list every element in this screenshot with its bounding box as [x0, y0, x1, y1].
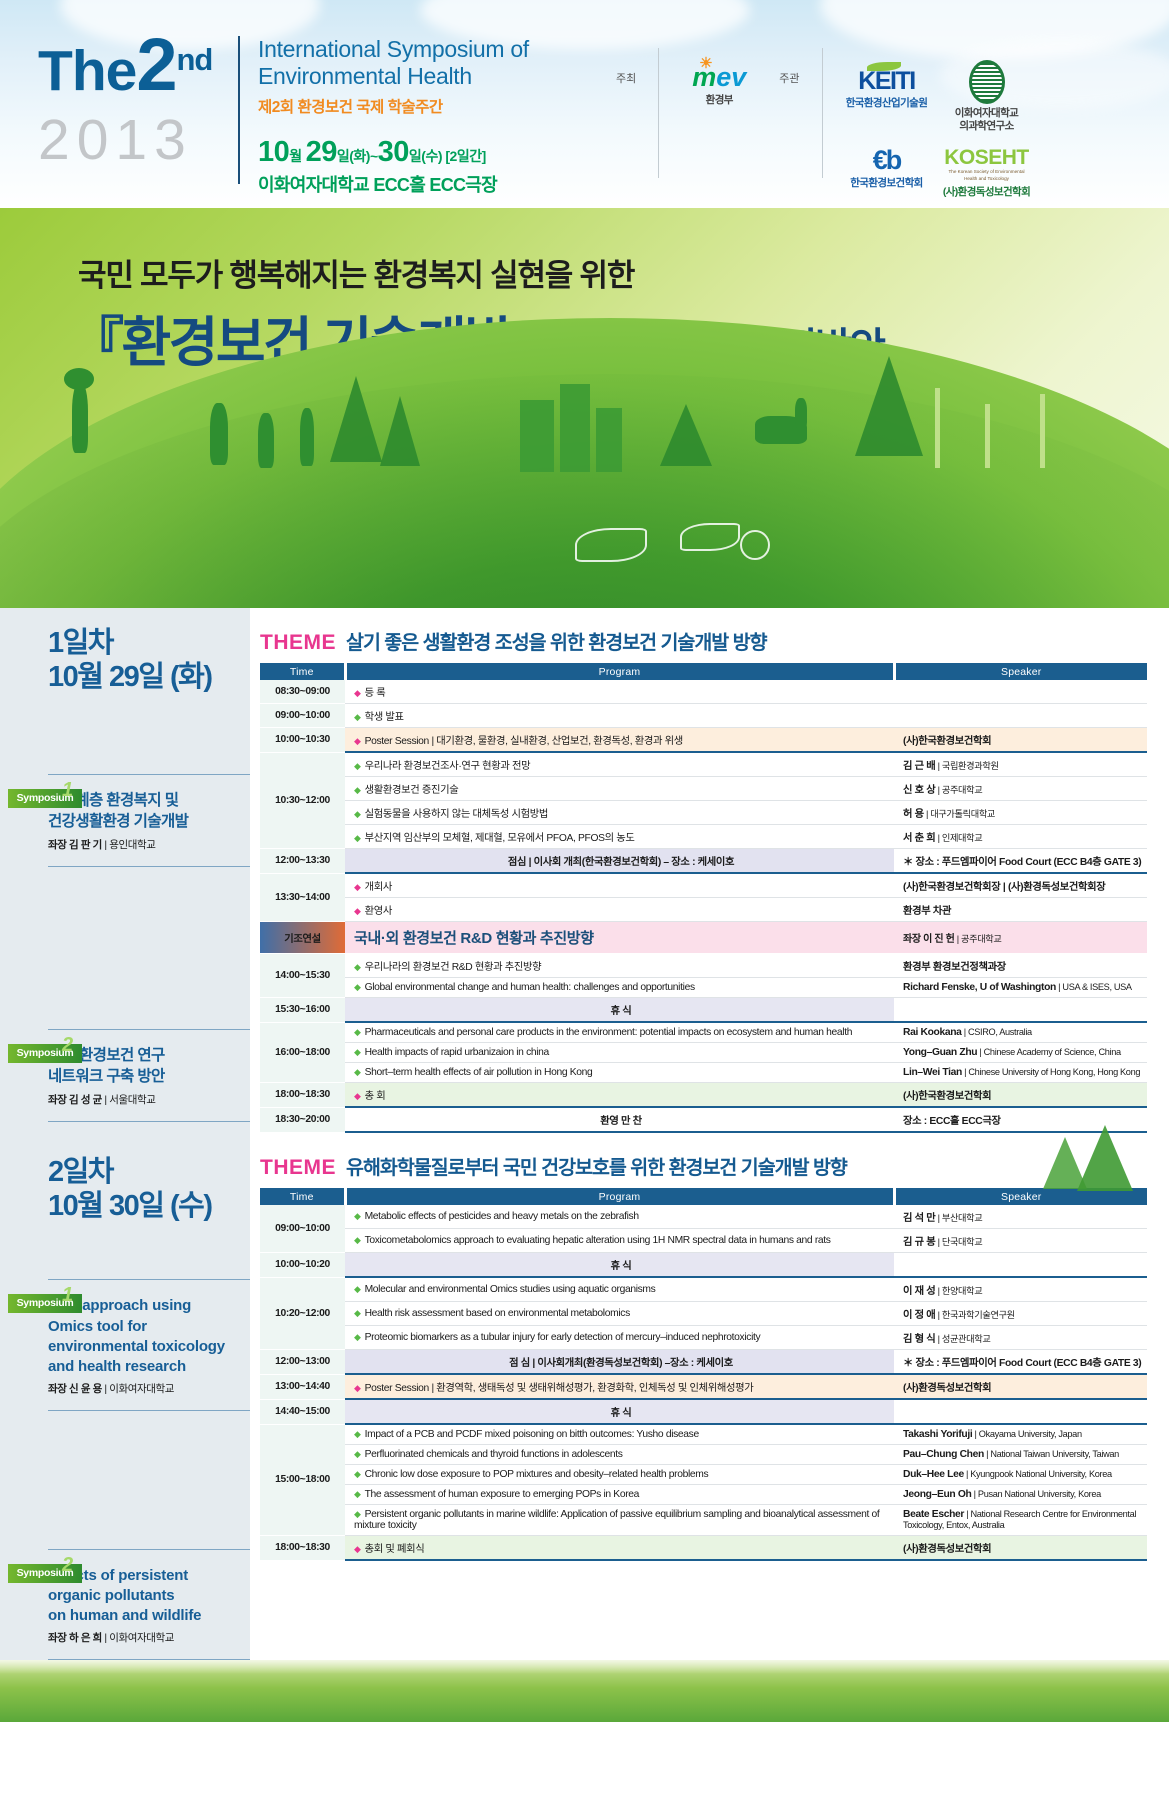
mev-logo-icon: mev☀	[673, 64, 765, 91]
day1-table-body: 08:30~09:00◆등 록09:00~10:00◆학생 발표10:00~10…	[260, 680, 1147, 1132]
bullet-icon: ◆	[354, 1284, 361, 1294]
symposium-title-line: environmental toxicology	[48, 1337, 242, 1357]
symposium-title-line: and health research	[48, 1357, 242, 1377]
bullet-icon: ◆	[354, 1235, 361, 1245]
day2-symposium-1: Symposium 1 New approach using Omics too…	[0, 1280, 250, 1409]
bullet-icon: ◆	[354, 882, 361, 892]
cell-time: 10:00~10:20	[260, 1253, 345, 1278]
symposium-chair: 좌장 김 성 균 | 서울대학교	[48, 1092, 242, 1107]
bullet-icon: ◆	[354, 1489, 361, 1499]
chair-affiliation: | 용인대학교	[104, 839, 155, 851]
cell-time: 09:00~10:00	[260, 1205, 345, 1253]
cell-time: 18:30~20:00	[260, 1107, 345, 1132]
cell-program: ◆생활환경보건 증진기술	[345, 777, 894, 801]
hero-banner: 국민 모두가 행복해지는 환경복지 실현을 위한 『환경보건 기술개발(R&D)…	[0, 208, 1169, 608]
person-silhouette	[258, 413, 274, 468]
table-row: 12:00~13:30점심 | 이사회 개최(한국환경보건학회) – 장소 : …	[260, 849, 1147, 874]
cell-speaker: 이 재 성 | 한양대학교	[894, 1277, 1147, 1302]
speaker-affiliation: | 한국과학기술연구원	[935, 1310, 1014, 1320]
cell-speaker: Takashi Yorifuji | Okayama University, J…	[894, 1424, 1147, 1445]
chair-name: 좌장 김 판 기	[48, 839, 102, 851]
day1-right-column: THEME 살기 좋은 생활환경 조성을 위한 환경보건 기술개발 방향 Tim…	[250, 608, 1169, 1133]
cell-program: ◆Poster Session | 환경역학, 생태독성 및 생태위해성평가, …	[345, 1374, 894, 1399]
org-koseht: KOSEHT The Korean Society of Environment…	[937, 147, 1037, 199]
table-row: ◆환영사환경부 차관	[260, 898, 1147, 922]
speaker-affiliation: | National Taiwan University, Taiwan	[984, 1449, 1119, 1459]
table-row: ◆Proteomic biomarkers as a tubular injur…	[260, 1326, 1147, 1350]
org-divider	[822, 48, 823, 178]
theme-text: 살기 좋은 생활환경 조성을 위한 환경보건 기술개발 방향	[346, 626, 767, 655]
table-row: 기조연설국내·외 환경보건 R&D 현황과 추진방향좌장 이 진 헌 | 공주대…	[260, 922, 1147, 954]
cell-speaker: 신 호 상 | 공주대학교	[894, 777, 1147, 801]
symposium-title-line: 건강생활환경 기술개발	[48, 812, 242, 833]
ewha-seal-icon	[969, 60, 1005, 104]
person-silhouette	[300, 408, 314, 466]
logo-edition-ordinal: nd	[177, 42, 213, 77]
bullet-icon: ◆	[354, 962, 361, 972]
cell-speaker	[894, 1399, 1147, 1424]
cell-program: ◆우리나라 환경보건조사·연구 현황과 전망	[345, 752, 894, 777]
date-month: 10	[258, 136, 289, 168]
table-row: 10:30~12:00◆우리나라 환경보건조사·연구 현황과 전망김 근 배 |…	[260, 752, 1147, 777]
chair-name: 좌장 김 성 균	[48, 1094, 102, 1106]
header-title-block: International Symposium of Environmental…	[258, 30, 588, 197]
koseht-logo-text: KOSEHT	[937, 147, 1037, 168]
table-row: 15:30~16:00휴 식	[260, 998, 1147, 1023]
host-label: 주최	[616, 48, 636, 86]
cell-speaker: Pau–Chung Chen | National Taiwan Univers…	[894, 1445, 1147, 1465]
table-row: 18:00~18:30◆총 회(사)한국환경보건학회	[260, 1083, 1147, 1108]
speaker-affiliation: | Chinese University of Hong Kong, Hong …	[962, 1067, 1140, 1077]
speaker-affiliation: | 국립환경과학원	[935, 761, 998, 771]
symposium-title-line: organic pollutants	[48, 1586, 242, 1606]
ehb-logo-icon: €b	[837, 147, 937, 174]
cell-time: 13:30~14:00	[260, 873, 345, 922]
cell-time: 10:20~12:00	[260, 1277, 345, 1350]
day2-label-line1: 2일차	[48, 1155, 250, 1189]
speaker-affiliation: | 공주대학교	[955, 934, 1002, 944]
cell-speaker: Rai Kookana | CSIRO, Australia	[894, 1022, 1147, 1043]
org-ewha: 이화여자대학교 의과학연구소	[937, 48, 1037, 133]
cell-program: ◆Pharmaceuticals and personal care produ…	[345, 1022, 894, 1043]
cell-time: 15:30~16:00	[260, 998, 345, 1023]
cell-time: 16:00~18:00	[260, 1022, 345, 1083]
cell-time: 08:30~09:00	[260, 680, 345, 704]
speaker-affiliation: | National Research Centre for Environme…	[903, 1509, 1136, 1530]
table-row: 14:40~15:00휴 식	[260, 1399, 1147, 1424]
day1-label-line1: 1일차	[48, 626, 250, 660]
cell-program: ◆Health impacts of rapid urbanizaion in …	[345, 1043, 894, 1063]
table-row: 18:00~18:30◆총회 및 폐회식(사)환경독성보건학회	[260, 1536, 1147, 1561]
cell-program: 휴 식	[345, 1253, 894, 1278]
fish-outline-icon	[680, 523, 740, 551]
speaker-affiliation: | 대구가톨릭대학교	[924, 809, 995, 819]
bullet-icon: ◆	[354, 1449, 361, 1459]
cell-program: ◆Toxicometabolomics approach to evaluati…	[345, 1229, 894, 1253]
spiral-icon	[740, 530, 770, 560]
cell-time: 18:00~18:30	[260, 1083, 345, 1108]
speaker-affiliation: | USA & ISES, USA	[1056, 982, 1132, 992]
day2-left-column: 2일차 10월 30일 (수) Symposium 1 New approach…	[0, 1133, 250, 1660]
cell-program: ◆Proteomic biomarkers as a tubular injur…	[345, 1326, 894, 1350]
cell-speaker	[894, 680, 1147, 704]
cell-speaker: 환경부 차관	[894, 898, 1147, 922]
speaker-affiliation: | CSIRO, Australia	[962, 1027, 1032, 1037]
cell-program: 국내·외 환경보건 R&D 현황과 추진방향	[345, 922, 894, 954]
table-row: 10:00~10:30◆Poster Session | 대기환경, 물환경, …	[260, 728, 1147, 753]
symposium-number: 2	[62, 1034, 73, 1057]
chair-affiliation: | 서울대학교	[104, 1094, 155, 1106]
cell-program: ◆환영사	[345, 898, 894, 922]
speaker-affiliation: | Okayama University, Japan	[972, 1429, 1081, 1439]
table-row: 12:00~13:00점 심 | 이사회개최(환경독성보건학회) –장소 : 케…	[260, 1350, 1147, 1375]
day2-section: 2일차 10월 30일 (수) Symposium 1 New approach…	[0, 1133, 1169, 1660]
cell-time: 15:00~18:00	[260, 1424, 345, 1536]
theme-keyword: THEME	[260, 1156, 336, 1180]
cell-speaker: Duk–Hee Lee | Kyungpook National Univers…	[894, 1465, 1147, 1485]
bullet-icon: ◆	[354, 1308, 361, 1318]
keiti-name: 한국환경산업기술원	[837, 97, 937, 110]
cell-time: 13:00~14:40	[260, 1374, 345, 1399]
table-row: ◆부산지역 임산부의 모체혈, 제대혈, 모유에서 PFOA, PFOS의 농도…	[260, 825, 1147, 849]
cell-speaker: (사)환경독성보건학회	[894, 1374, 1147, 1399]
table-row: ◆Toxicometabolomics approach to evaluati…	[260, 1229, 1147, 1253]
bullet-icon: ◆	[354, 1469, 361, 1479]
day1-left-column: 1일차 10월 29일 (화) Symposium 1 취약계층 환경복지 및 …	[0, 608, 250, 1133]
bullet-icon: ◆	[354, 1429, 361, 1439]
cell-program: ◆실험동물을 사용하지 않는 대체독성 시험방법	[345, 801, 894, 825]
symposium-chair: 좌장 신 윤 용 | 이화여자대학교	[48, 1381, 242, 1396]
cell-program: ◆Impact of a PCB and PCDF mixed poisonin…	[345, 1424, 894, 1445]
tree-silhouette	[855, 356, 923, 456]
cell-speaker: 환경부 환경보건정책과장	[894, 954, 1147, 978]
cell-speaker: 허 용 | 대구가톨릭대학교	[894, 801, 1147, 825]
table-row: 08:30~09:00◆등 록	[260, 680, 1147, 704]
table-header-row: Time Program Speaker	[260, 663, 1147, 680]
host-logo-cell: mev☀ 환경부	[673, 48, 765, 107]
table-row: ◆Perfluorinated chemicals and thyroid fu…	[260, 1445, 1147, 1465]
table-row: ◆실험동물을 사용하지 않는 대체독성 시험방법허 용 | 대구가톨릭대학교	[260, 801, 1147, 825]
windmill-icon	[1040, 394, 1045, 468]
title-en-line1: International Symposium of	[258, 36, 588, 63]
table-row: ◆Short–term health effects of air pollut…	[260, 1063, 1147, 1083]
col-header-program: Program	[345, 663, 894, 680]
table-row: 14:00~15:30◆우리나라의 환경보건 R&D 현황과 추진방향환경부 환…	[260, 954, 1147, 978]
cell-program: 휴 식	[345, 998, 894, 1023]
day2-right-column: THEME 유해화학물질로부터 국민 건강보호를 위한 환경보건 기술개발 방향…	[250, 1133, 1169, 1660]
cell-program: 점심 | 이사회 개최(한국환경보건학회) – 장소 : 케세이호	[345, 849, 894, 874]
symposium-title-line: 네트워크 구축 방안	[48, 1067, 242, 1088]
bullet-icon: ◆	[354, 736, 361, 746]
cell-time: 기조연설	[260, 922, 345, 954]
poster-header: The2nd 2013 International Symposium of E…	[0, 0, 1169, 208]
cell-speaker: ＊ 장소 : 푸드엠파이어 Food Court (ECC B4층 GATE 3…	[894, 849, 1147, 874]
bullet-icon: ◆	[354, 906, 361, 916]
symposium-number: 1	[62, 779, 73, 802]
speaker-affiliation: | 공주대학교	[935, 785, 982, 795]
col-header-time: Time	[260, 1188, 345, 1205]
speaker-affiliation: | 인제대학교	[935, 833, 982, 843]
day2-schedule-table: Time Program Speaker 09:00~10:00◆Metabol…	[260, 1188, 1147, 1561]
building-silhouette	[596, 408, 622, 472]
cell-speaker: 김 규 봉 | 단국대학교	[894, 1229, 1147, 1253]
theme-text: 유해화학물질로부터 국민 건강보호를 위한 환경보건 기술개발 방향	[346, 1151, 847, 1180]
symposium-number: 1	[62, 1284, 73, 1307]
bullet-icon: ◆	[354, 1332, 361, 1342]
edition-logo: The2nd 2013	[38, 30, 238, 169]
event-dates: 10월 29일(화)~30일(수) [2일간]	[258, 136, 588, 169]
bullet-icon: ◆	[354, 1544, 361, 1554]
event-venue: 이화여자대학교 ECC홀 ECC극장	[258, 171, 588, 197]
day1-schedule-table: Time Program Speaker 08:30~09:00◆등 록09:0…	[260, 663, 1147, 1133]
cell-program: ◆총회 및 폐회식	[345, 1536, 894, 1561]
cell-program: ◆Metabolic effects of pesticides and hea…	[345, 1205, 894, 1229]
date-day1: 29	[306, 136, 337, 168]
cell-program: 환영 만 찬	[345, 1107, 894, 1132]
building-silhouette	[560, 384, 590, 472]
org-ehb: €b 한국환경보건학회	[837, 147, 937, 199]
cell-speaker	[894, 704, 1147, 728]
cell-program: ◆총 회	[345, 1083, 894, 1108]
logo-year: 2013	[38, 112, 238, 169]
cell-speaker: Beate Escher | National Research Centre …	[894, 1505, 1147, 1536]
cell-speaker: (사)한국환경보건학회	[894, 1083, 1147, 1108]
symposium-title-line: on human and wildlife	[48, 1606, 242, 1626]
cell-speaker: 이 정 애 | 한국과학기술연구원	[894, 1302, 1147, 1326]
cell-speaker: Jeong–Eun Oh | Pusan National University…	[894, 1485, 1147, 1505]
col-header-time: Time	[260, 663, 345, 680]
person-silhouette	[72, 383, 88, 453]
cell-program: 휴 식	[345, 1399, 894, 1424]
table-row: ◆Health risk assessment based on environ…	[260, 1302, 1147, 1326]
cell-program: ◆학생 발표	[345, 704, 894, 728]
header-divider	[238, 36, 240, 184]
logo-the-text: The	[38, 39, 136, 103]
person-silhouette	[64, 368, 94, 390]
date-day2: 30	[378, 136, 409, 168]
cell-program: ◆Molecular and environmental Omics studi…	[345, 1277, 894, 1302]
cell-program: ◆Chronic low dose exposure to POP mixtur…	[345, 1465, 894, 1485]
ehb-name: 한국환경보건학회	[837, 177, 937, 190]
table-row: ◆Persistent organic pollutants in marine…	[260, 1505, 1147, 1536]
bullet-icon: ◆	[354, 1509, 361, 1519]
cell-speaker: ＊ 장소 : 푸드엠파이어 Food Court (ECC B4층 GATE 3…	[894, 1350, 1147, 1375]
cell-time: 18:00~18:30	[260, 1536, 345, 1561]
bullet-icon: ◆	[354, 761, 361, 771]
cell-time: 09:00~10:00	[260, 704, 345, 728]
speaker-affiliation: | Kyungpook National University, Korea	[964, 1469, 1112, 1479]
cell-speaker: 서 춘 희 | 인제대학교	[894, 825, 1147, 849]
day2-theme: THEME 유해화학물질로부터 국민 건강보호를 위한 환경보건 기술개발 방향	[260, 1151, 1147, 1180]
speaker-affiliation: | Chinese Academy of Science, China	[977, 1047, 1121, 1057]
theme-keyword: THEME	[260, 631, 336, 655]
table-row: 15:00~18:00◆Impact of a PCB and PCDF mix…	[260, 1424, 1147, 1445]
cell-program: ◆Short–term health effects of air pollut…	[345, 1063, 894, 1083]
col-header-program: Program	[345, 1188, 894, 1205]
speaker-affiliation: | Pusan National University, Korea	[971, 1489, 1100, 1499]
table-row: 13:00~14:40◆Poster Session | 환경역학, 생태독성 …	[260, 1374, 1147, 1399]
poster-footer-strip	[0, 1660, 1169, 1722]
bullet-icon: ◆	[354, 1211, 361, 1221]
cell-program: ◆Perfluorinated chemicals and thyroid fu…	[345, 1445, 894, 1465]
cell-speaker: 김 형 식 | 성균관대학교	[894, 1326, 1147, 1350]
cell-speaker: 김 석 만 | 부산대학교	[894, 1205, 1147, 1229]
chair-affiliation: | 이화여자대학교	[104, 1632, 174, 1644]
cell-program: 점 심 | 이사회개최(환경독성보건학회) –장소 : 케세이호	[345, 1350, 894, 1375]
koseht-logo-subtitle: The Korean Society of Environmental Heal…	[937, 169, 1037, 183]
table-row: 10:00~10:20휴 식	[260, 1253, 1147, 1278]
windmill-icon	[935, 388, 940, 468]
cell-program: ◆Global environmental change and human h…	[345, 978, 894, 998]
table-header-row: Time Program Speaker	[260, 1188, 1147, 1205]
symposium-number: 2	[62, 1554, 73, 1577]
koseht-name: (사)환경독성보건학회	[937, 186, 1037, 199]
day2-table-body: 09:00~10:00◆Metabolic effects of pestici…	[260, 1205, 1147, 1560]
cell-program: ◆Poster Session | 대기환경, 물환경, 실내환경, 산업보건,…	[345, 728, 894, 753]
date-day1-unit: 일(화)~	[337, 148, 378, 164]
table-row: 10:20~12:00◆Molecular and environmental …	[260, 1277, 1147, 1302]
cell-program: ◆우리나라의 환경보건 R&D 현황과 추진방향	[345, 954, 894, 978]
speaker-affiliation: | 성균관대학교	[935, 1334, 990, 1344]
bullet-icon: ◆	[354, 982, 361, 992]
date-day2-unit: 일(수) [2일간]	[409, 148, 486, 164]
tree-silhouette	[380, 396, 420, 466]
col-header-speaker: Speaker	[894, 663, 1147, 680]
cell-speaker: Yong–Guan Zhu | Chinese Academy of Scien…	[894, 1043, 1147, 1063]
cell-program: ◆개회사	[345, 873, 894, 898]
bullet-icon: ◆	[354, 1027, 361, 1037]
person-silhouette	[210, 403, 228, 465]
host-name: 환경부	[673, 94, 765, 107]
day1-symposium-1: Symposium 1 취약계층 환경복지 및 건강생활환경 기술개발 좌장 김…	[0, 775, 250, 866]
table-row: 13:30~14:00◆개회사(사)한국환경보건학회장 | (사)환경독성보건학…	[260, 873, 1147, 898]
day2-label: 2일차 10월 30일 (수)	[0, 1155, 250, 1223]
chair-name: 좌장 신 윤 용	[48, 1383, 102, 1395]
organizer-logos: 주최 mev☀ 환경부 주관 KEITI 한국환경산업기술원	[616, 30, 1037, 199]
chair-affiliation: | 이화여자대학교	[104, 1383, 174, 1395]
cell-time: 14:40~15:00	[260, 1399, 345, 1424]
cell-speaker: Lin–Wei Tian | Chinese University of Hon…	[894, 1063, 1147, 1083]
cell-time: 14:00~15:30	[260, 954, 345, 998]
deer-silhouette	[795, 398, 807, 428]
keiti-logo-text: KEITI	[837, 69, 937, 94]
windmill-icon	[985, 404, 990, 468]
cell-program: ◆Health risk assessment based on environ…	[345, 1302, 894, 1326]
bullet-icon: ◆	[354, 809, 361, 819]
table-row: 18:30~20:00환영 만 찬장소 : ECC홀 ECC극장	[260, 1107, 1147, 1132]
day1-theme: THEME 살기 좋은 생활환경 조성을 위한 환경보건 기술개발 방향	[260, 626, 1147, 655]
table-row: ◆Health impacts of rapid urbanizaion in …	[260, 1043, 1147, 1063]
tree-silhouette	[660, 404, 712, 466]
org-divider	[658, 48, 659, 178]
cell-time: 10:30~12:00	[260, 752, 345, 849]
bullet-icon: ◆	[354, 1067, 361, 1077]
cell-speaker: (사)환경독성보건학회	[894, 1536, 1147, 1561]
speaker-affiliation: | 한양대학교	[935, 1286, 982, 1296]
cell-speaker: 김 근 배 | 국립환경과학원	[894, 752, 1147, 777]
bullet-icon: ◆	[354, 688, 361, 698]
cell-speaker	[894, 1253, 1147, 1278]
cell-speaker: (사)한국환경보건학회장 | (사)환경독성보건학회장	[894, 873, 1147, 898]
date-month-unit: 월	[289, 148, 301, 164]
table-row: 09:00~10:00◆학생 발표	[260, 704, 1147, 728]
cell-time: 12:00~13:30	[260, 849, 345, 874]
org-keiti: KEITI 한국환경산업기술원	[837, 48, 937, 133]
title-ko: 제2회 환경보건 국제 학술주간	[258, 95, 588, 117]
bullet-icon: ◆	[354, 833, 361, 843]
symposium-title-line: Omics tool for	[48, 1317, 242, 1337]
table-row: ◆생활환경보건 증진기술신 호 상 | 공주대학교	[260, 777, 1147, 801]
day1-label-line2: 10월 29일 (화)	[48, 660, 250, 694]
day2-label-line2: 10월 30일 (수)	[48, 1189, 250, 1223]
table-row: 16:00~18:00◆Pharmaceuticals and personal…	[260, 1022, 1147, 1043]
day2-symposium-2: Symposium 2 Effects of persistent organi…	[0, 1550, 250, 1659]
bullet-icon: ◆	[354, 1383, 361, 1393]
table-row: ◆Chronic low dose exposure to POP mixtur…	[260, 1465, 1147, 1485]
hero-subtitle: 국민 모두가 행복해지는 환경복지 실현을 위한	[78, 250, 634, 295]
fish-outline-icon	[575, 528, 647, 562]
table-row: ◆The assessment of human exposure to eme…	[260, 1485, 1147, 1505]
day1-symposium-2: Symposium 2 국제 환경보건 연구 네트워크 구축 방안 좌장 김 성…	[0, 1030, 250, 1121]
bullet-icon: ◆	[354, 1047, 361, 1057]
cell-time: 10:00~10:30	[260, 728, 345, 753]
cell-program: ◆The assessment of human exposure to eme…	[345, 1485, 894, 1505]
cell-speaker: Richard Fenske, U of Washington | USA & …	[894, 978, 1147, 998]
bullet-icon: ◆	[354, 785, 361, 795]
schedule-body: 1일차 10월 29일 (화) Symposium 1 취약계층 환경복지 및 …	[0, 608, 1169, 1722]
cell-program: ◆등 록	[345, 680, 894, 704]
cell-program: ◆부산지역 임산부의 모체혈, 제대혈, 모유에서 PFOA, PFOS의 농도	[345, 825, 894, 849]
cell-program: ◆Persistent organic pollutants in marine…	[345, 1505, 894, 1536]
cell-time: 12:00~13:00	[260, 1350, 345, 1375]
speaker-affiliation: | 부산대학교	[935, 1213, 982, 1223]
bullet-icon: ◆	[354, 712, 361, 722]
tree-silhouette	[330, 376, 382, 462]
cell-speaker	[894, 998, 1147, 1023]
table-row: 09:00~10:00◆Metabolic effects of pestici…	[260, 1205, 1147, 1229]
day1-label: 1일차 10월 29일 (화)	[0, 626, 250, 694]
organizer-label: 주관	[779, 48, 799, 86]
logo-edition-number: 2	[136, 23, 176, 106]
building-silhouette	[520, 400, 554, 472]
cell-speaker: 좌장 이 진 헌 | 공주대학교	[894, 922, 1147, 954]
speaker-affiliation: | 단국대학교	[935, 1237, 982, 1247]
cell-speaker: (사)한국환경보건학회	[894, 728, 1147, 753]
title-en-line2: Environmental Health	[258, 63, 588, 90]
ewha-name: 이화여자대학교 의과학연구소	[937, 107, 1037, 133]
bullet-icon: ◆	[354, 1091, 361, 1101]
chair-name: 좌장 하 은 희	[48, 1632, 102, 1644]
symposium-chair: 좌장 김 판 기 | 용인대학교	[48, 837, 242, 852]
day1-section: 1일차 10월 29일 (화) Symposium 1 취약계층 환경복지 및 …	[0, 608, 1169, 1133]
table-row: ◆Global environmental change and human h…	[260, 978, 1147, 998]
symposium-divider	[48, 1121, 250, 1122]
symposium-chair: 좌장 하 은 희 | 이화여자대학교	[48, 1630, 242, 1645]
